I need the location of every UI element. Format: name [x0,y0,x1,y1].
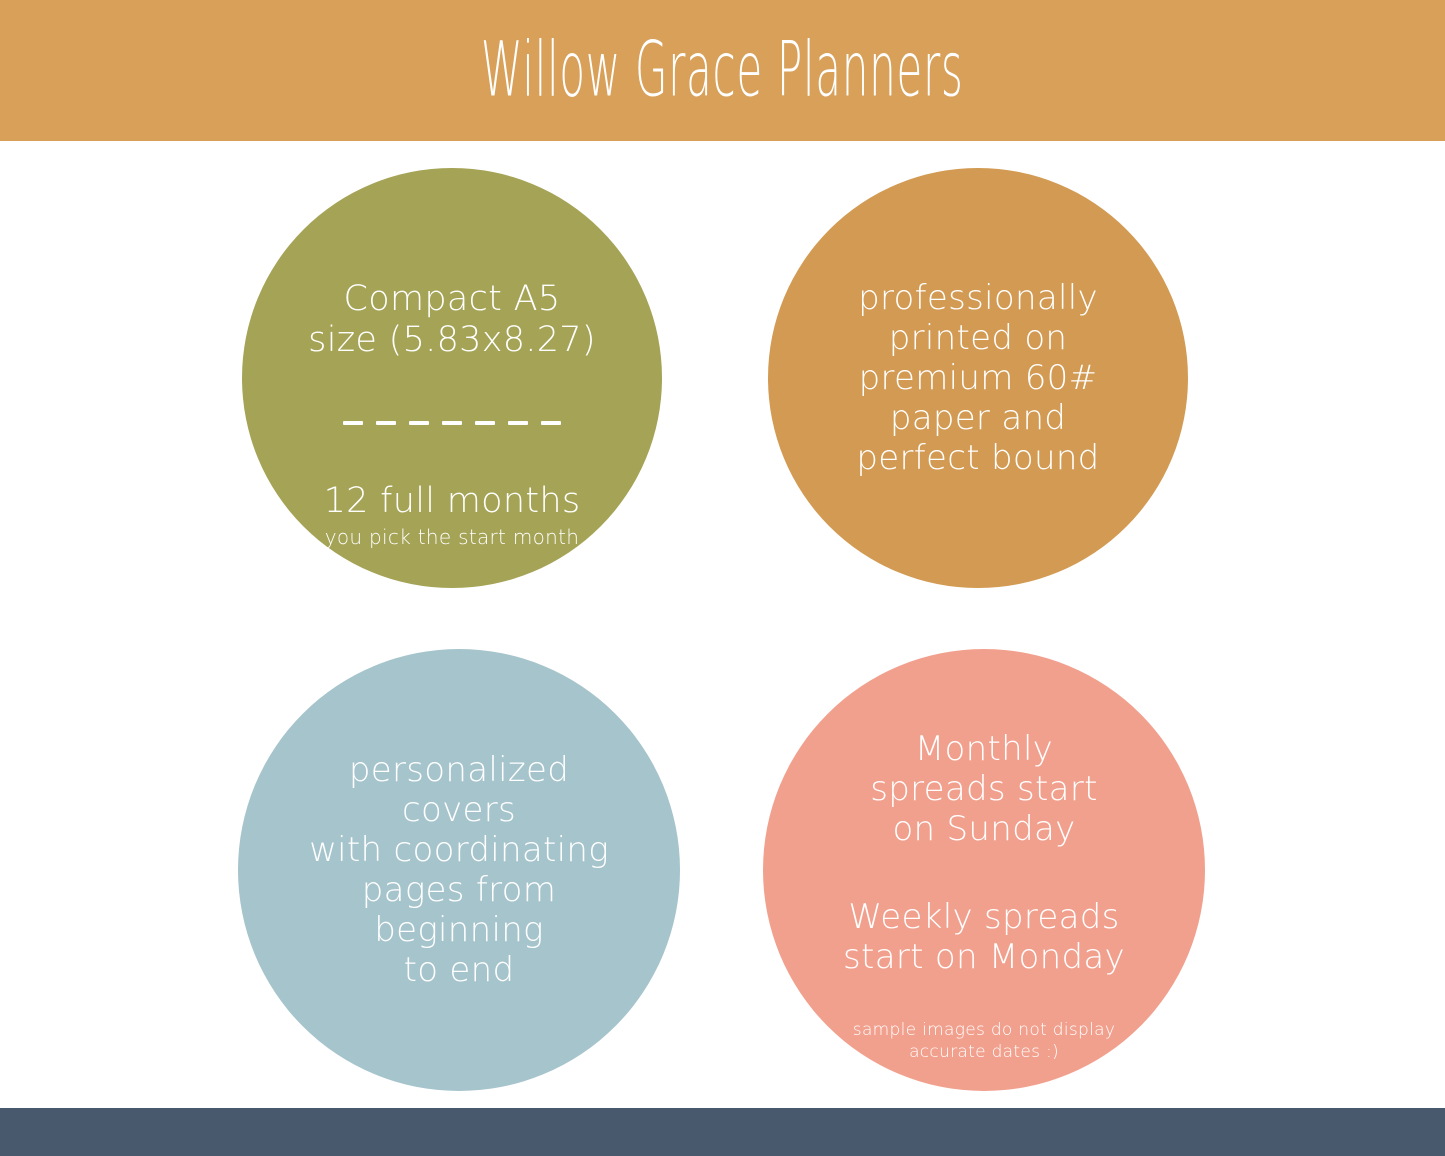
divider-dash [508,421,528,425]
covers-line-1: personalized [349,750,569,790]
divider-dash [343,421,363,425]
covers-line-3: with coordinating [309,830,609,870]
covers-line-2: covers [402,790,516,830]
size-line-2: size (5.83x8.27) [308,320,596,361]
printing-line-1: professionally [858,278,1098,318]
monthly-line-2: spreads start [870,769,1097,809]
feature-circle-spread-start-days: Monthly spreads start on Sunday Weekly s… [763,649,1205,1091]
months-heading: 12 full months [324,481,581,522]
sample-note-line-1: sample images do not display [853,1019,1115,1041]
weekly-line-1: Weekly spreads [848,897,1119,937]
printing-line-5: perfect bound [856,438,1099,478]
feature-circle-personalized-covers: personalized covers with coordinating pa… [238,649,680,1091]
divider-dash [376,421,396,425]
personalized-covers-content: personalized covers with coordinating pa… [238,750,680,991]
divider-dash [475,421,495,425]
header-band: Willow Grace Planners [0,0,1445,141]
monthly-line-1: Monthly [915,729,1053,769]
sample-note-line-2: accurate dates :) [909,1041,1059,1063]
covers-line-5: beginning [374,910,544,950]
dashed-divider [343,421,561,425]
feature-circle-printing-quality: professionally printed on premium 60# pa… [768,168,1188,588]
divider-dash [442,421,462,425]
page-title: Willow Grace Planners [481,32,964,108]
spread-start-days-content: Monthly spreads start on Sunday Weekly s… [763,677,1205,1064]
printing-quality-content: professionally printed on premium 60# pa… [768,278,1188,479]
printing-line-3: premium 60# [859,358,1098,398]
divider-dash [541,421,561,425]
size-and-months-content: Compact A5 size (5.83x8.27) 12 full mont… [242,207,662,549]
feature-circle-size-and-months: Compact A5 size (5.83x8.27) 12 full mont… [242,168,662,588]
printing-line-4: paper and [890,398,1066,438]
monthly-line-3: on Sunday [892,809,1075,849]
covers-line-6: to end [404,950,515,990]
size-line-1: Compact A5 [344,279,561,320]
divider-dash [409,421,429,425]
months-subtext: you pick the start month [325,526,580,550]
footer-band [0,1108,1445,1156]
printing-line-2: printed on [889,318,1068,358]
infographic-page: Willow Grace Planners Compact A5 size (5… [0,0,1445,1156]
weekly-line-2: start on Monday [843,937,1125,977]
feature-circles-grid: Compact A5 size (5.83x8.27) 12 full mont… [0,141,1445,1108]
covers-line-4: pages from [362,870,556,910]
